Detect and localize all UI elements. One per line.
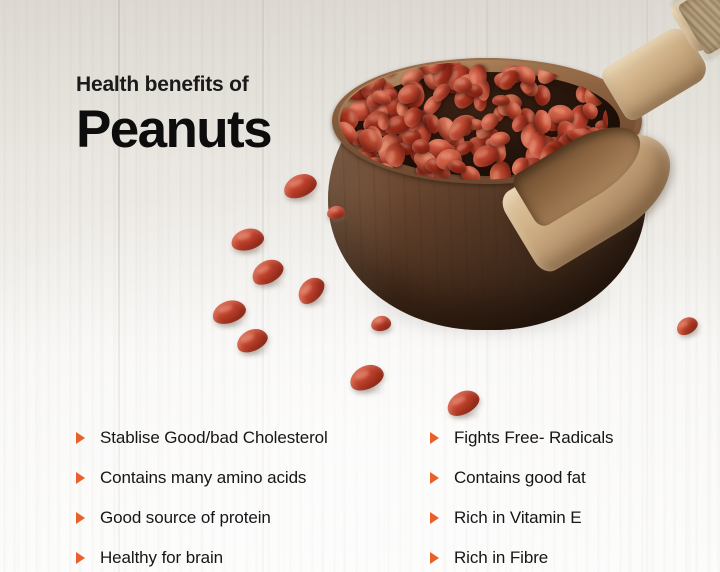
headline-kicker: Health benefits of (76, 74, 271, 95)
benefits-list: Stablise Good/bad CholesterolContains ma… (0, 418, 720, 572)
benefit-item: Stablise Good/bad Cholesterol (76, 418, 426, 458)
benefit-item: Contains many amino acids (76, 458, 426, 498)
benefit-label: Healthy for brain (100, 548, 223, 568)
benefit-item: Good source of protein (76, 498, 426, 538)
benefit-item: Healthy for brain (76, 538, 426, 572)
page-title: Peanuts (76, 102, 271, 158)
triangle-bullet-icon (76, 472, 85, 484)
benefit-label: Rich in Vitamin E (454, 508, 581, 528)
benefit-label: Rich in Fibre (454, 548, 548, 568)
benefit-label: Good source of protein (100, 508, 271, 528)
triangle-bullet-icon (430, 552, 439, 564)
benefit-label: Contains many amino acids (100, 468, 306, 488)
triangle-bullet-icon (76, 432, 85, 444)
benefit-label: Contains good fat (454, 468, 586, 488)
triangle-bullet-icon (430, 472, 439, 484)
triangle-bullet-icon (76, 512, 85, 524)
benefit-item: Rich in Fibre (430, 538, 710, 572)
benefit-label: Fights Free- Radicals (454, 428, 613, 448)
benefit-item: Fights Free- Radicals (430, 418, 710, 458)
benefit-item: Rich in Vitamin E (430, 498, 710, 538)
headline-block: Health benefits of Peanuts (76, 74, 271, 158)
triangle-bullet-icon (430, 432, 439, 444)
benefits-right-column: Fights Free- RadicalsContains good fatRi… (430, 418, 710, 572)
benefit-label: Stablise Good/bad Cholesterol (100, 428, 328, 448)
benefit-item: Contains good fat (430, 458, 710, 498)
peanut-benefits-poster: Health benefits of Peanuts Stablise Good… (0, 0, 720, 572)
benefits-left-column: Stablise Good/bad CholesterolContains ma… (76, 418, 426, 572)
triangle-bullet-icon (76, 552, 85, 564)
triangle-bullet-icon (430, 512, 439, 524)
